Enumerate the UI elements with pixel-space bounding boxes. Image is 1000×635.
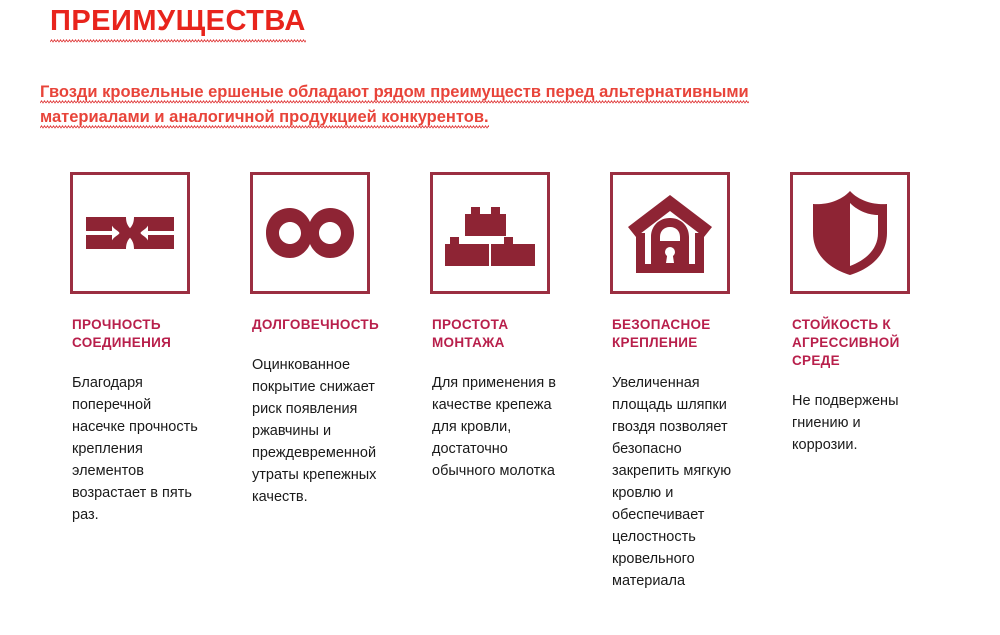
house-lock-icon — [626, 193, 714, 273]
feature-title-1-line-2: СОЕДИНЕНИЯ — [72, 334, 232, 352]
feature-body-4-line-7: обеспечивает — [612, 504, 764, 526]
intro-paragraph: Гвозди кровельные ершеные обладают рядом… — [40, 80, 970, 130]
feature-body-3-line-5: обычного молотка — [432, 460, 584, 482]
feature-title-2-line-1: ДОЛГОВЕЧНОСТЬ — [252, 316, 412, 334]
feature-body-2-line-2: покрытие снижает — [252, 376, 404, 398]
chain-links-icon — [84, 203, 176, 263]
feature-title-1-line-1: ПРОЧНОСТЬ — [72, 316, 232, 334]
feature-body-4-line-10: материала — [612, 570, 764, 592]
feature-card-stoykost-k-agressivnoy-srede: СТОЙКОСТЬ К АГРЕССИВНОЙ СРЕДЕ Не подверж… — [782, 172, 962, 456]
feature-body-4-line-3: гвоздя позволяет — [612, 416, 764, 438]
feature-card-bezopasnoe-kreplenie: БЕЗОПАСНОЕ КРЕПЛЕНИЕ Увеличенная площадь… — [602, 172, 782, 592]
feature-card-prostota-montazha: ПРОСТОТА МОНТАЖА Для применения в качест… — [422, 172, 602, 482]
shield-icon — [810, 189, 890, 277]
infinity-icon — [263, 204, 357, 262]
feature-body-5-line-2: гниению и — [792, 412, 944, 434]
feature-title-3: ПРОСТОТА МОНТАЖА — [432, 316, 592, 352]
intro-line-1: Гвозди кровельные ершеные обладают рядом… — [40, 83, 749, 104]
feature-body-2-line-1: Оцинкованное — [252, 354, 404, 376]
feature-body-2-line-6: утраты крепежных — [252, 464, 404, 486]
feature-body-1-line-1: Благодаря — [72, 372, 224, 394]
icon-box-1 — [70, 172, 190, 294]
feature-body-1-line-3: насечке прочность — [72, 416, 224, 438]
feature-body-2-line-7: качеств. — [252, 486, 404, 508]
feature-body-4-line-8: целостность — [612, 526, 764, 548]
feature-body-2-line-5: преждевременной — [252, 442, 404, 464]
feature-body-4-line-4: безопасно — [612, 438, 764, 460]
feature-title-5-line-2: АГРЕССИВНОЙ — [792, 334, 952, 352]
feature-body-3-line-4: достаточно — [432, 438, 584, 460]
feature-body-2-line-3: риск появления — [252, 398, 404, 420]
feature-title-4: БЕЗОПАСНОЕ КРЕПЛЕНИЕ — [612, 316, 772, 352]
icon-box-3 — [430, 172, 550, 294]
feature-body-4-line-1: Увеличенная — [612, 372, 764, 394]
feature-title-5: СТОЙКОСТЬ К АГРЕССИВНОЙ СРЕДЕ — [792, 316, 952, 370]
feature-body-2: Оцинкованное покрытие снижает риск появл… — [252, 354, 404, 508]
feature-body-4: Увеличенная площадь шляпки гвоздя позвол… — [612, 372, 764, 592]
feature-body-5: Не подвержены гниению и коррозии. — [792, 390, 944, 456]
feature-body-4-line-6: кровлю и — [612, 482, 764, 504]
feature-body-3-line-2: качестве крепежа — [432, 394, 584, 416]
feature-body-5-line-1: Не подвержены — [792, 390, 944, 412]
feature-title-5-line-1: СТОЙКОСТЬ К — [792, 316, 952, 334]
feature-body-3: Для применения в качестве крепежа для кр… — [432, 372, 584, 482]
feature-body-1-line-7: раз. — [72, 504, 224, 526]
feature-title-3-line-2: МОНТАЖА — [432, 334, 592, 352]
feature-title-3-line-1: ПРОСТОТА — [432, 316, 592, 334]
feature-body-4-line-5: закрепить мягкую — [612, 460, 764, 482]
feature-body-5-line-3: коррозии. — [792, 434, 944, 456]
feature-body-3-line-3: для кровли, — [432, 416, 584, 438]
feature-body-1: Благодаря поперечной насечке прочность к… — [72, 372, 224, 526]
feature-body-1-line-2: поперечной — [72, 394, 224, 416]
icon-box-4 — [610, 172, 730, 294]
feature-title-2: ДОЛГОВЕЧНОСТЬ — [252, 316, 412, 334]
feature-body-4-line-2: площадь шляпки — [612, 394, 764, 416]
feature-title-4-line-1: БЕЗОПАСНОЕ — [612, 316, 772, 334]
icon-box-5 — [790, 172, 910, 294]
feature-body-1-line-4: крепления — [72, 438, 224, 460]
bricks-icon — [444, 197, 536, 269]
icon-box-2 — [250, 172, 370, 294]
feature-body-4-line-9: кровельного — [612, 548, 764, 570]
feature-title-4-line-2: КРЕПЛЕНИЕ — [612, 334, 772, 352]
features-row: ПРОЧНОСТЬ СОЕДИНЕНИЯ Благодаря поперечно… — [62, 172, 982, 592]
intro-line-2: материалами и аналогичной продукцией кон… — [40, 108, 489, 129]
feature-body-2-line-4: ржавчины и — [252, 420, 404, 442]
feature-card-dolgovechnost: ДОЛГОВЕЧНОСТЬ Оцинкованное покрытие сниж… — [242, 172, 422, 508]
feature-body-3-line-1: Для применения в — [432, 372, 584, 394]
feature-title-1: ПРОЧНОСТЬ СОЕДИНЕНИЯ — [72, 316, 232, 352]
feature-body-1-line-5: элементов — [72, 460, 224, 482]
page-title: ПРЕИМУЩЕСТВА — [50, 2, 306, 43]
feature-body-1-line-6: возрастает в пять — [72, 482, 224, 504]
feature-card-prochnost-soedineniya: ПРОЧНОСТЬ СОЕДИНЕНИЯ Благодаря поперечно… — [62, 172, 242, 526]
feature-title-5-line-3: СРЕДЕ — [792, 352, 952, 370]
